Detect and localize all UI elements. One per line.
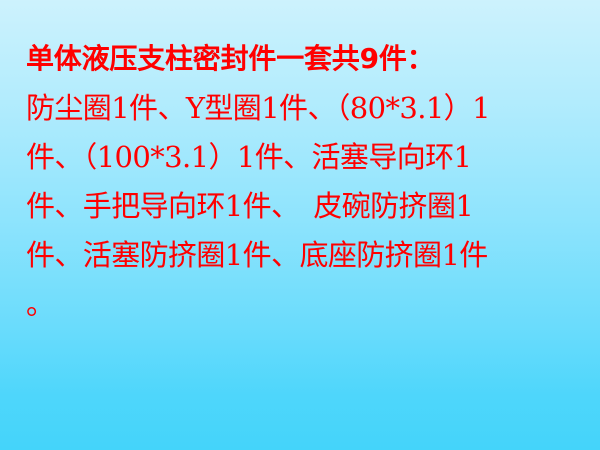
slide-body-line-3: 件、手把导向环1件、 皮碗防挤圈1: [26, 182, 578, 231]
slide-text-block: 单体液压支柱密封件一套共9件： 防尘圈1件、Y型圈1件、（80*3.1）1 件、…: [26, 34, 578, 329]
slide-body-line-1: 防尘圈1件、Y型圈1件、（80*3.1）1: [26, 84, 578, 133]
slide-body-line-5: 。: [26, 280, 578, 329]
slide-body-line-4: 件、活塞防挤圈1件、底座防挤圈1件: [26, 231, 578, 280]
slide-body-line-2: 件、（100*3.1）1件、活塞导向环1: [26, 133, 578, 182]
slide-title: 单体液压支柱密封件一套共9件：: [26, 34, 578, 84]
presentation-slide: 单体液压支柱密封件一套共9件： 防尘圈1件、Y型圈1件、（80*3.1）1 件、…: [0, 0, 600, 450]
